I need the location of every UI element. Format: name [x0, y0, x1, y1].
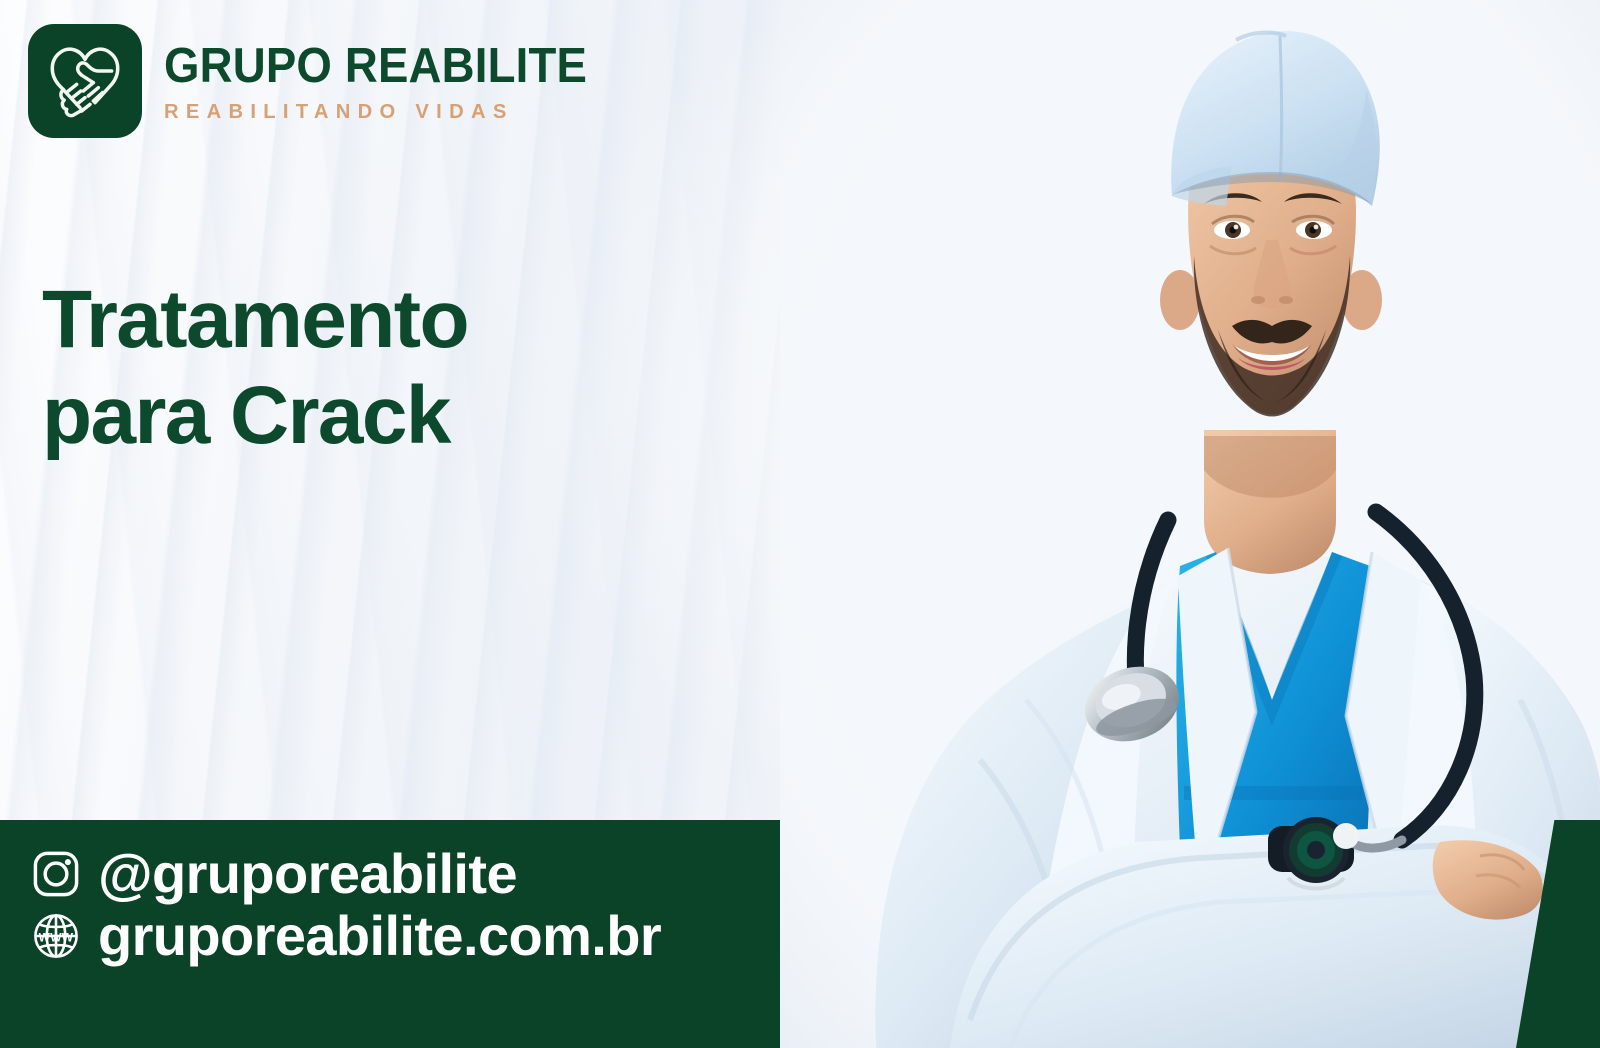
- instagram-row[interactable]: @gruporeabilite: [30, 846, 661, 902]
- brand-tagline: REABILITANDO VIDAS: [164, 99, 612, 125]
- page-title: Tratamento para Crack: [42, 272, 468, 464]
- handshake-heart-icon: [28, 24, 142, 138]
- svg-text:WWW: WWW: [39, 930, 74, 944]
- promo-banner: GRUPO REABILITE REABILITANDO VIDAS Trata…: [0, 0, 1600, 1048]
- instagram-handle: @gruporeabilite: [98, 846, 517, 902]
- brand-name: GRUPO REABILITE: [164, 42, 587, 92]
- doctor-photo: [780, 0, 1600, 1048]
- instagram-icon: [30, 848, 82, 900]
- brand-logo: GRUPO REABILITE REABILITANDO VIDAS: [28, 24, 619, 138]
- brand-wordmark: GRUPO REABILITE REABILITANDO VIDAS: [164, 38, 619, 125]
- contact-list: @gruporeabilite WWW gruporeabilite.com.b…: [30, 846, 661, 964]
- website-url: gruporeabilite.com.br: [98, 908, 661, 964]
- globe-www-icon: WWW: [30, 910, 82, 962]
- website-row[interactable]: WWW gruporeabilite.com.br: [30, 908, 661, 964]
